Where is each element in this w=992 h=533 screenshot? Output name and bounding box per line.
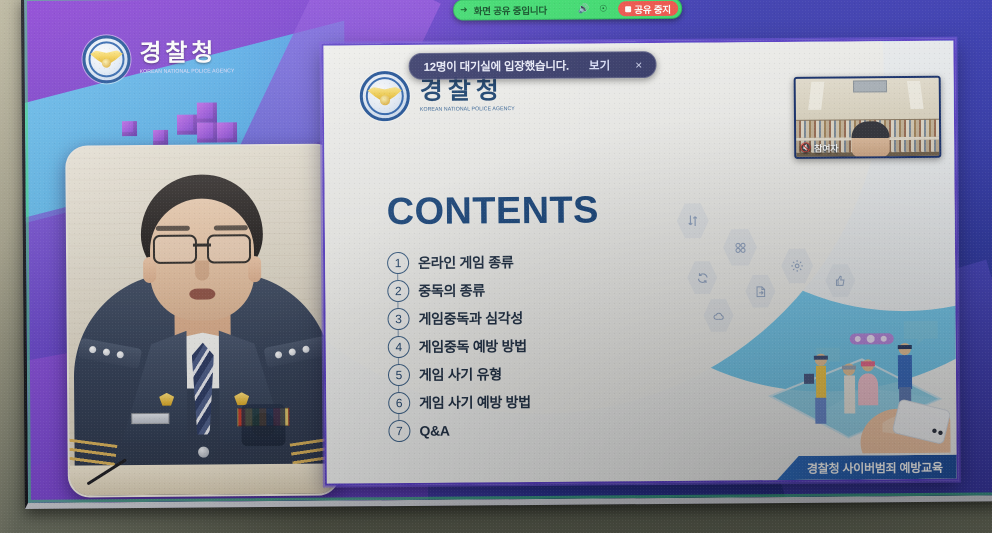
stop-square-icon <box>625 6 631 12</box>
stop-share-button[interactable]: 공유 중지 <box>618 1 678 16</box>
monitor-panel: 경찰청 KOREAN NATIONAL POLICE AGENCY <box>21 0 992 509</box>
speaker-video-tile[interactable] <box>65 144 340 498</box>
toc-label: 게임 사기 예방 방법 <box>419 392 531 413</box>
toc-number: 3 <box>387 308 409 330</box>
thumb-wall-sign <box>853 81 887 93</box>
toc-number: 2 <box>387 280 409 302</box>
decor-cube <box>197 102 217 122</box>
slide-logo-ko: 경찰청 <box>420 78 521 104</box>
contents-title: CONTENTS <box>387 191 599 231</box>
list-item: 1 온라인 게임 종류 <box>387 247 599 277</box>
speaker-nameplate <box>131 413 169 424</box>
toc-label: 게임중독과 심각성 <box>418 308 523 329</box>
share-screen-icon: ➜ <box>460 4 468 15</box>
desktop-police-logo: 경찰청 KOREAN NATIONAL POLICE AGENCY <box>82 34 240 83</box>
slide-logo-en: KOREAN NATIONAL POLICE AGENCY <box>420 107 515 113</box>
toc-number: 4 <box>388 336 410 358</box>
speaker-pocket-insignia <box>241 404 285 446</box>
toc-label: 게임중독 예방 방법 <box>419 336 527 357</box>
participant-name-text: 참여자 <box>814 142 838 155</box>
decor-cube <box>153 130 168 145</box>
decor-cube <box>217 122 237 142</box>
thumb-person <box>852 121 889 157</box>
toast-view-button[interactable]: 보기 <box>583 55 616 75</box>
list-item: 6 게임 사기 예방 방법 <box>388 387 600 417</box>
toc-number: 7 <box>388 420 410 442</box>
list-item: 5 게임 사기 유형 <box>388 359 600 389</box>
decor-cube <box>177 115 197 135</box>
toast-message: 12명이 대기실에 입장했습니다. <box>424 57 570 74</box>
mute-icon[interactable]: 🔊 <box>573 0 594 19</box>
screen-share-control-bar[interactable]: ➜ 화면 공유 중입니다 🔊 ☉ 공유 중지 <box>453 0 682 21</box>
table-of-contents-list: 1 온라인 게임 종류 2 중독의 종류 3 게임중독과 심각성 <box>387 247 601 445</box>
toc-number: 5 <box>388 364 410 386</box>
list-item: 4 게임중독 예방 방법 <box>388 331 600 361</box>
toc-number: 6 <box>388 392 410 414</box>
list-item: 7 Q&A <box>388 415 600 445</box>
toc-label: 게임 사기 유형 <box>419 364 502 385</box>
contents-block: CONTENTS 1 온라인 게임 종류 2 중독의 종류 <box>387 191 601 445</box>
mic-muted-icon: 🔇 <box>800 143 811 154</box>
participant-thumbnail[interactable]: 🔇 참여자 <box>794 76 942 159</box>
slide-footer-banner: 경찰청 사이버범죄 예방교육 <box>777 455 957 480</box>
zoom-desktop-background: 경찰청 KOREAN NATIONAL POLICE AGENCY <box>24 0 992 503</box>
desktop-logo-ko: 경찰청 <box>139 42 240 67</box>
desktop-logo-en: KOREAN NATIONAL POLICE AGENCY <box>140 70 235 76</box>
toc-label: 온라인 게임 종류 <box>418 252 514 273</box>
shared-screen-window[interactable]: 경찰청 KOREAN NATIONAL POLICE AGENCY <box>321 39 958 486</box>
police-emblem-icon <box>82 35 130 83</box>
speaker-button <box>198 447 209 458</box>
hands-holding-tablet-illustration <box>753 303 950 455</box>
share-status-text: 화면 공유 중입니다 <box>474 2 547 17</box>
list-item: 3 게임중독과 심각성 <box>387 303 599 333</box>
participant-name-label: 🔇 참여자 <box>800 142 838 155</box>
waiting-room-toast[interactable]: 12명이 대기실에 입장했습니다. 보기 × <box>408 51 656 80</box>
photographed-monitor-scene: 경찰청 KOREAN NATIONAL POLICE AGENCY <box>0 0 992 533</box>
close-icon[interactable]: × <box>630 57 647 73</box>
presentation-slide: 경찰청 KOREAN NATIONAL POLICE AGENCY <box>323 41 956 484</box>
toc-label: Q&A <box>419 423 449 439</box>
decor-cube <box>197 122 217 142</box>
decor-cube <box>122 121 137 136</box>
toc-label: 중독의 종류 <box>418 280 485 301</box>
annotate-icon[interactable]: ☉ <box>594 0 612 18</box>
stop-share-label: 공유 중지 <box>634 1 671 15</box>
speaker-glasses-right <box>207 234 251 263</box>
speaker-face <box>150 198 255 321</box>
speaker-glasses-left <box>153 235 197 264</box>
list-item: 2 중독의 종류 <box>387 275 599 305</box>
slide-footer-text: 경찰청 사이버범죄 예방교육 <box>807 458 943 476</box>
toc-number: 1 <box>387 252 409 274</box>
police-emblem-icon <box>360 71 410 121</box>
